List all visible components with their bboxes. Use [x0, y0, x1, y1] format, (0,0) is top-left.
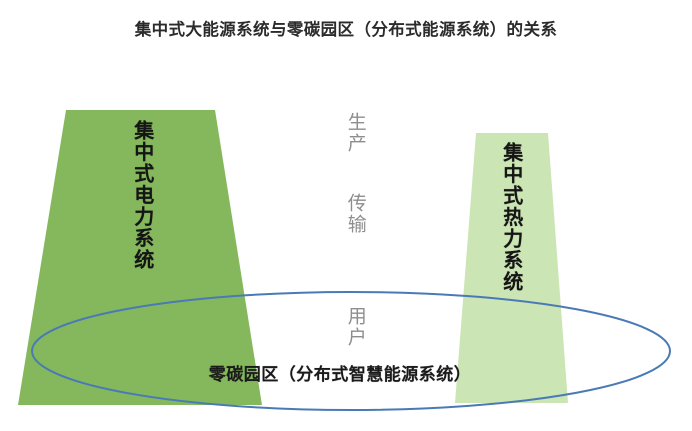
left-trapezoid-label: 集中式电力系统 — [132, 120, 153, 271]
right-trapezoid-label: 集中式热力系统 — [501, 142, 522, 293]
stage-label-users: 用户 — [345, 306, 365, 348]
zero-carbon-park-label: 零碳园区（分布式智慧能源系统） — [140, 360, 540, 385]
diagram-canvas: 集中式大能源系统与零碳园区（分布式能源系统）的关系 集中式电力系统 集中式热力系… — [0, 0, 692, 431]
stage-label-production: 生产 — [345, 112, 365, 154]
stage-label-transmission: 传输 — [345, 193, 365, 235]
